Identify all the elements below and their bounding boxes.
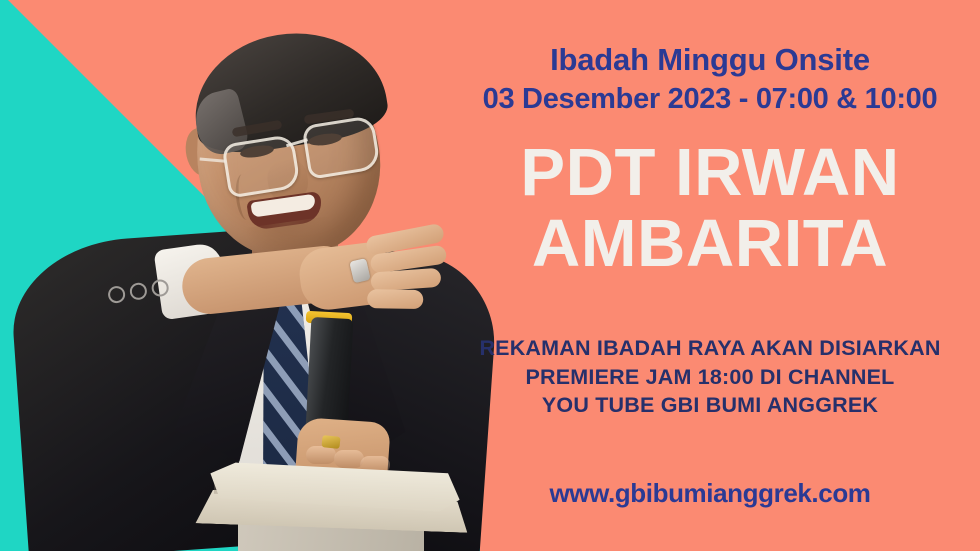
lens-right xyxy=(301,115,381,180)
notice-line-2: PREMIERE JAM 18:00 DI CHANNEL xyxy=(440,363,980,392)
broadcast-notice: REKAMAN IBADAH RAYA AKAN DISIARKAN PREMI… xyxy=(440,334,980,420)
poster-canvas: Ibadah Minggu Onsite 03 Desember 2023 - … xyxy=(0,0,980,551)
notice-line-3: YOU TUBE GBI BUMI ANGGREK xyxy=(440,391,980,420)
gold-ring xyxy=(321,435,340,449)
speaker-name: PDT IRWAN AMBARITA xyxy=(440,140,980,276)
notice-line-1: REKAMAN IBADAH RAYA AKAN DISIARKAN xyxy=(440,334,980,363)
finger xyxy=(367,289,423,309)
event-kicker: Ibadah Minggu Onsite xyxy=(440,44,980,77)
sleeve-button xyxy=(107,285,126,304)
speaker-name-line1: PDT IRWAN xyxy=(520,135,899,210)
sleeve-button xyxy=(151,279,170,298)
speaker-name-line2: AMBARITA xyxy=(440,211,980,276)
event-date-time: 03 Desember 2023 - 07:00 & 10:00 xyxy=(440,84,980,114)
gesturing-hand xyxy=(295,223,452,324)
speaker-photo xyxy=(0,0,500,551)
knuckle xyxy=(306,446,336,464)
website-url: www.gbibumianggrek.com xyxy=(440,478,980,509)
text-panel: Ibadah Minggu Onsite 03 Desember 2023 - … xyxy=(440,0,980,551)
sleeve-button xyxy=(129,282,148,301)
finger xyxy=(370,268,441,292)
